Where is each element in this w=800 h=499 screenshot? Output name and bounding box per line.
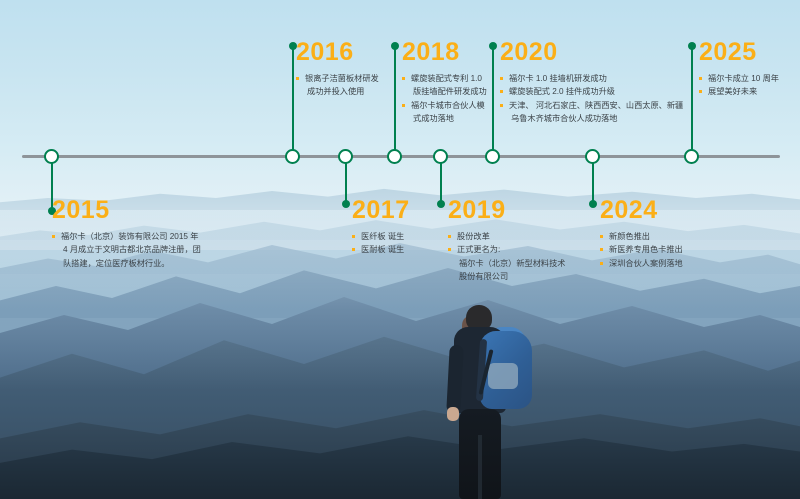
year-label-2016: 2016	[296, 40, 379, 65]
timeline-stem-2016	[292, 46, 294, 156]
timeline-stem-cap-2020	[489, 42, 497, 50]
timeline-marker-2020[interactable]	[485, 149, 500, 164]
bullet-list-2016: 银离子洁菌板材研发成功并投入使用	[296, 72, 379, 99]
bullet-item: 福尔卡（北京）装饰有限公司 2015 年4 月成立于文明古都北京品牌注册，团队搭…	[52, 230, 201, 270]
bullet-item: 福尔卡 1.0 挂墙机研发成功	[500, 72, 683, 85]
timeline-stem-cap-2019	[437, 200, 445, 208]
bullet-line: 银离子洁菌板材研发	[305, 74, 379, 83]
timeline-infographic: 2015福尔卡（北京）装饰有限公司 2015 年4 月成立于文明古都北京品牌注册…	[0, 0, 800, 499]
timeline-marker-2015[interactable]	[44, 149, 59, 164]
bullet-line: 福尔卡成立 10 周年	[708, 74, 779, 83]
bullet-item: 深圳合伙人案例落地	[600, 257, 683, 270]
bullet-line: 版挂墙配件研发成功	[411, 85, 487, 98]
timeline-entry-2015: 2015福尔卡（北京）装饰有限公司 2015 年4 月成立于文明古都北京品牌注册…	[52, 198, 201, 270]
bullet-line: 正式更名为:	[457, 245, 500, 254]
bullet-list-2020: 福尔卡 1.0 挂墙机研发成功螺旋装配式 2.0 挂件成功升级天津、 河北石家庄…	[500, 72, 683, 125]
timeline-marker-2024[interactable]	[585, 149, 600, 164]
bullet-item: 医纤板 诞生	[352, 230, 410, 243]
timeline-marker-2019[interactable]	[433, 149, 448, 164]
bullet-item: 螺旋装配式 2.0 挂件成功升级	[500, 85, 683, 98]
timeline-entry-2024: 2024新颜色推出新医养专用色卡推出深圳合伙人案例落地	[600, 198, 683, 270]
bullet-list-2015: 福尔卡（北京）装饰有限公司 2015 年4 月成立于文明古都北京品牌注册，团队搭…	[52, 230, 201, 270]
bullet-line: 福尔卡（北京）装饰有限公司 2015 年	[61, 232, 198, 241]
timeline-entry-2016: 2016银离子洁菌板材研发成功并投入使用	[296, 40, 379, 99]
bullet-line: 展望美好未来	[708, 87, 757, 96]
bullet-line: 式成功落地	[411, 112, 487, 125]
bullet-line: 医耐板 诞生	[361, 245, 404, 254]
bullet-list-2019: 股份改革正式更名为:福尔卡（北京）新型材料技术股份有限公司	[448, 230, 565, 283]
bullet-item: 螺旋装配式专利 1.0版挂墙配件研发成功	[402, 72, 487, 99]
bullet-list-2018: 螺旋装配式专利 1.0版挂墙配件研发成功福尔卡城市合伙人模式成功落地	[402, 72, 487, 125]
bullet-list-2017: 医纤板 诞生医耐板 诞生	[352, 230, 410, 257]
bullet-item: 福尔卡城市合伙人模式成功落地	[402, 99, 487, 126]
bullet-line: 队搭建，定位医疗板材行业。	[61, 257, 201, 270]
hiker-figure	[432, 305, 552, 499]
timeline-marker-2016[interactable]	[285, 149, 300, 164]
timeline-marker-2017[interactable]	[338, 149, 353, 164]
bullet-item: 银离子洁菌板材研发成功并投入使用	[296, 72, 379, 99]
bullet-line: 新医养专用色卡推出	[609, 245, 683, 254]
timeline-entry-2019: 2019股份改革正式更名为:福尔卡（北京）新型材料技术股份有限公司	[448, 198, 565, 283]
bullet-line: 福尔卡（北京）新型材料技术	[457, 257, 565, 270]
bullet-item: 天津、 河北石家庄、陕西西安、山西太原、新疆乌鲁木齐城市合伙人成功落地	[500, 99, 683, 126]
bullet-item: 股份改革	[448, 230, 565, 243]
hiker-leg-divide	[478, 435, 482, 499]
bullet-item: 新颜色推出	[600, 230, 683, 243]
bullet-line: 乌鲁木齐城市合伙人成功落地	[509, 112, 683, 125]
timeline-stem-2018	[394, 46, 396, 156]
timeline-stem-2025	[691, 46, 693, 156]
year-label-2015: 2015	[52, 198, 201, 223]
backpack-pocket	[488, 363, 518, 389]
bullet-line: 福尔卡城市合伙人模	[411, 101, 485, 110]
bullet-item: 医耐板 诞生	[352, 243, 410, 256]
year-label-2020: 2020	[500, 40, 683, 65]
bullet-line: 深圳合伙人案例落地	[609, 259, 683, 268]
timeline-stem-cap-2017	[342, 200, 350, 208]
bullet-line: 福尔卡 1.0 挂墙机研发成功	[509, 74, 607, 83]
bullet-item: 正式更名为:福尔卡（北京）新型材料技术股份有限公司	[448, 243, 565, 283]
timeline-stem-cap-2025	[688, 42, 696, 50]
bullet-line: 股份有限公司	[457, 270, 565, 283]
year-label-2019: 2019	[448, 198, 565, 223]
year-label-2025: 2025	[699, 40, 779, 65]
timeline-entry-2017: 2017医纤板 诞生医耐板 诞生	[352, 198, 410, 257]
timeline-entry-2020: 2020福尔卡 1.0 挂墙机研发成功螺旋装配式 2.0 挂件成功升级天津、 河…	[500, 40, 683, 125]
hiker-hand	[447, 407, 459, 421]
bullet-line: 股份改革	[457, 232, 490, 241]
bullet-item: 新医养专用色卡推出	[600, 243, 683, 256]
timeline-entry-2025: 2025福尔卡成立 10 周年展望美好未来	[699, 40, 779, 99]
timeline-stem-2020	[492, 46, 494, 156]
bullet-line: 成功并投入使用	[305, 85, 379, 98]
bullet-item: 展望美好未来	[699, 85, 779, 98]
bullet-list-2025: 福尔卡成立 10 周年展望美好未来	[699, 72, 779, 99]
bullet-line: 4 月成立于文明古都北京品牌注册，团	[61, 243, 201, 256]
year-label-2017: 2017	[352, 198, 410, 223]
timeline-entry-2018: 2018螺旋装配式专利 1.0版挂墙配件研发成功福尔卡城市合伙人模式成功落地	[402, 40, 487, 125]
bullet-line: 螺旋装配式专利 1.0	[411, 74, 482, 83]
year-label-2018: 2018	[402, 40, 487, 65]
bullet-line: 天津、 河北石家庄、陕西西安、山西太原、新疆	[509, 101, 683, 110]
bullet-line: 新颜色推出	[609, 232, 650, 241]
year-label-2024: 2024	[600, 198, 683, 223]
bullet-list-2024: 新颜色推出新医养专用色卡推出深圳合伙人案例落地	[600, 230, 683, 270]
bullet-line: 医纤板 诞生	[361, 232, 404, 241]
bullet-line: 螺旋装配式 2.0 挂件成功升级	[509, 87, 615, 96]
timeline-stem-cap-2024	[589, 200, 597, 208]
timeline-marker-2018[interactable]	[387, 149, 402, 164]
timeline-stem-cap-2018	[391, 42, 399, 50]
bullet-item: 福尔卡成立 10 周年	[699, 72, 779, 85]
timeline-marker-2025[interactable]	[684, 149, 699, 164]
